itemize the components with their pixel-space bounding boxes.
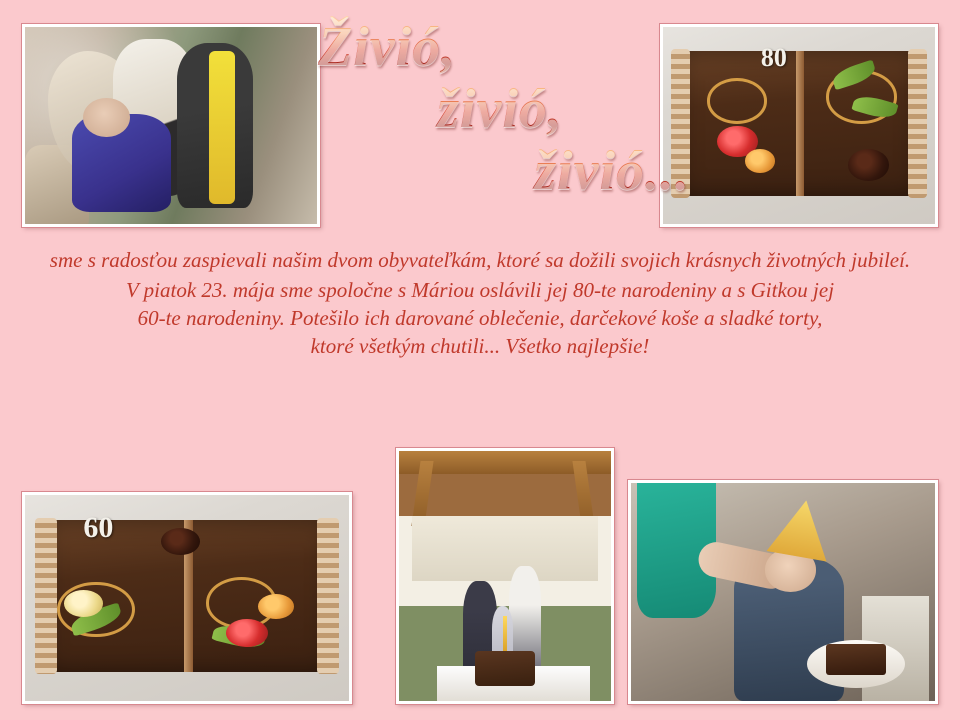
title-line-2: živió,	[300, 78, 700, 140]
cake-page-edge	[35, 518, 58, 675]
cake-rose-decor	[226, 619, 268, 648]
photo-pavilion-image	[399, 451, 611, 701]
body-paragraph-2-line-3: ktoré všetkým chutili... Všetko najlepši…	[6, 332, 954, 360]
photo-cake-shape	[475, 651, 534, 686]
body-paragraph-2-line-2: 60-te narodeniny. Potešilo ich darované …	[6, 304, 954, 332]
body-paragraph-2-line-1: V piatok 23. mája sme spoločne s Máriou …	[6, 276, 954, 304]
photo-group-left	[22, 24, 320, 227]
photo-decor-shape	[412, 516, 599, 581]
body-text: sme s radosťou zaspievali našim dvom oby…	[0, 246, 960, 360]
photo-candle-shape	[503, 616, 507, 656]
photo-group-left-image	[25, 27, 317, 224]
photo-decor-shape	[209, 51, 235, 205]
title-line-1: Živió,	[300, 16, 700, 78]
slide-canvas: 80 Živió, živió, živió... sme s radosťou…	[0, 0, 960, 720]
cake-rose-decor	[258, 594, 294, 619]
cake-swirl-decor	[707, 78, 767, 123]
photo-cake-bottom-left-image: 60	[25, 495, 349, 701]
cake-rose-dark-decor	[161, 528, 200, 555]
cake-rose-decor	[64, 590, 103, 617]
slide-title: Živió, živió, živió...	[300, 16, 700, 202]
cake-spine	[796, 51, 804, 197]
cake-rose-dark-decor	[848, 149, 889, 181]
photo-party-image	[631, 483, 935, 701]
photo-cake-top-right: 80	[660, 24, 938, 227]
cake-page-edge	[317, 518, 340, 675]
body-paragraph-1: sme s radosťou zaspievali našim dvom oby…	[6, 246, 954, 274]
photo-party-hat-shape	[766, 496, 836, 562]
photo-cake-slice-shape	[826, 644, 887, 675]
photo-cake-bottom-left: 60	[22, 492, 352, 704]
cake-rose-decor	[745, 149, 775, 173]
cake-number-label: 80	[761, 43, 787, 73]
photo-cake-top-right-image: 80	[663, 27, 935, 224]
cake-number-label: 60	[83, 511, 113, 545]
photo-pavilion	[396, 448, 614, 704]
photo-party	[628, 480, 938, 704]
cake-page-edge	[908, 49, 927, 199]
title-line-3: živió...	[300, 140, 700, 202]
photo-decor-shape	[83, 98, 130, 137]
